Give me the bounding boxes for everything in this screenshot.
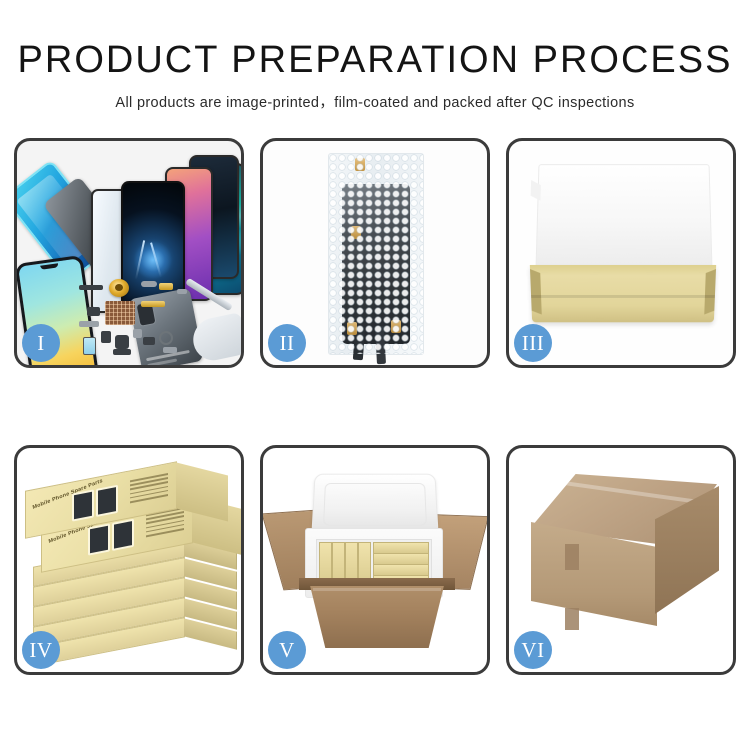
foam-box-lid: [311, 474, 438, 536]
process-step-2: II: [260, 138, 490, 368]
process-step-3: III: [506, 138, 736, 368]
small-screen-part: [83, 337, 96, 355]
carton-body: [301, 586, 453, 648]
tape-seal: [565, 544, 579, 570]
page-title: PRODUCT PREPARATION PROCESS: [0, 38, 750, 82]
box-flap-left: [530, 269, 542, 315]
swirl-wallpaper: [131, 238, 175, 282]
small-part: [101, 331, 111, 343]
small-part: [159, 283, 173, 290]
bubble-wrap-bag: [328, 153, 424, 355]
small-part: [87, 307, 100, 316]
small-part: [79, 321, 99, 327]
step-badge-4: IV: [22, 631, 60, 669]
small-ring-part: [159, 331, 173, 345]
notch: [40, 263, 58, 269]
small-part: [163, 347, 177, 353]
step-badge-5: V: [268, 631, 306, 669]
carton-seam: [313, 588, 441, 591]
small-part: [177, 289, 187, 294]
box-edge: [531, 295, 715, 298]
bubble-texture: [329, 154, 423, 354]
small-part: [115, 335, 129, 349]
box-window-screen: [72, 489, 94, 521]
process-step-grid: I II: [14, 138, 736, 675]
process-step-4: Mobile Phone Spare Parts Mobile Phone Sp…: [14, 445, 244, 675]
box-flap-right: [704, 269, 716, 315]
process-step-6: VI: [506, 445, 736, 675]
chip-grid-part: [105, 301, 135, 325]
box-spec-lines: [130, 473, 168, 508]
small-part: [79, 285, 103, 290]
small-part: [133, 329, 142, 338]
small-part: [113, 349, 131, 355]
product-preparation-infographic: PRODUCT PREPARATION PROCESS All products…: [0, 0, 750, 750]
header: PRODUCT PREPARATION PROCESS All products…: [0, 0, 750, 112]
process-step-1: I: [14, 138, 244, 368]
small-part: [141, 281, 157, 287]
speaker-coil-part: [109, 279, 129, 297]
step-badge-1: I: [22, 324, 60, 362]
box-window-screen: [88, 523, 110, 555]
step-badge-6: VI: [514, 631, 552, 669]
kraft-box-body: [530, 265, 716, 322]
white-box-lid: [535, 164, 712, 269]
step-badge-2: II: [268, 324, 306, 362]
box-window-screen: [112, 519, 134, 551]
box-window-screen: [96, 485, 118, 517]
tape-seal: [565, 608, 579, 630]
process-step-5: V: [260, 445, 490, 675]
small-part: [143, 337, 155, 345]
page-subtitle: All products are image-printed，film-coat…: [0, 91, 750, 112]
step-badge-3: III: [514, 324, 552, 362]
small-flex-part: [141, 301, 165, 307]
carton-seam: [561, 481, 694, 504]
